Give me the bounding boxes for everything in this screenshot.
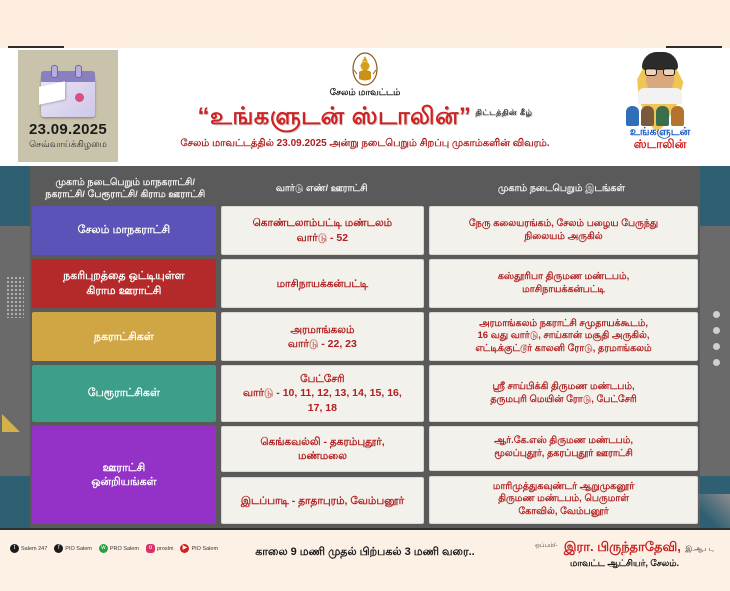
corner-fade-decor [696, 494, 730, 528]
column-header-venue: முகாம் நடைபெறும் இடங்கள் [425, 183, 698, 195]
page-title-text: “உங்களுடன் ஸ்டாலின்” [198, 103, 472, 130]
poster-footer: t Salem 247 f PIO Salem w PRO Salem o pr… [0, 528, 730, 591]
table-row: நகரிபுறத்தை ஒட்டியுள்ள கிராம ஊராட்சி மாச… [32, 259, 698, 308]
column-header-local-body: முகாம் நடைபெறும் மாநகராட்சி/ நகராட்சி/ ப… [32, 177, 218, 201]
page-title: “உங்களுடன் ஸ்டாலின்”திட்டத்தின் கீழ் [198, 103, 533, 133]
right-decor-panel [700, 166, 730, 528]
table-row: சேலம் மாநகராட்சி கொண்டலாம்பட்டி மண்டலம் … [32, 206, 698, 255]
ward-cell: பேட்சேரி வார்டு - 10, 11, 12, 13, 14, 15… [221, 365, 424, 421]
venue-cell: ஆர்.கே.எஸ் திருமண மண்டபம், மூலப்புதூர், … [429, 426, 698, 471]
table-row: நகராட்சிகள் அரமாங்கலம் வார்டு - 22, 23 அ… [32, 312, 698, 361]
signature-block: ஒப்பம்/- இரா. பிருந்தாதேவி, இ.ஆ.ப., மாவட… [535, 538, 714, 570]
signature-prefix: ஒப்பம்/- [535, 543, 557, 550]
ward-cell: மாசிநாயக்கன்பட்டி [221, 259, 424, 308]
dot-grid-decor [6, 276, 24, 318]
triangle-accent-decor [2, 414, 20, 432]
camp-schedule-table: முகாம் நடைபெறும் மாநகராட்சி/ நகராட்சி/ ப… [32, 166, 698, 528]
column-header-ward: வார்டு எண்/ ஊராட்சி [218, 183, 424, 195]
table-body: சேலம் மாநகராட்சி கொண்டலாம்பட்டி மண்டலம் … [32, 206, 698, 524]
category-cell: நகரிபுறத்தை ஒட்டியுள்ள கிராம ஊராட்சி [32, 259, 216, 308]
poster-header: 23.09.2025 செவ்வாய்க்கிழமை சேலம் மாவட்டம… [0, 48, 730, 166]
venue-cell: நேரு கலையரங்கம், சேலம் பழைய பேருந்து நில… [429, 206, 698, 255]
venue-cell: ஸ்ரீ சாய்பிக்கி திருமண மண்டபம், தருமபுரி… [429, 365, 698, 421]
table-row: ஊராட்சி ஒன்றியங்கள் கெங்கவல்லி - தகரம்பு… [32, 426, 698, 524]
category-cell: ஊராட்சி ஒன்றியங்கள் [32, 426, 216, 524]
category-cell: நகராட்சிகள் [32, 312, 216, 361]
venue-cell: மாரிமுத்துகவுண்டர் ஆறுமுகனூர் திருமண மண்… [429, 476, 698, 524]
page-subtitle: சேலம் மாவட்டத்தில் 23.09.2025 அன்று நடைப… [180, 138, 549, 150]
ward-cell: கொண்டலாம்பட்டி மண்டலம் வார்டு - 52 [221, 206, 424, 255]
dot-list-decor [713, 311, 720, 366]
program-logo-line2: ஸ்டாலின் [612, 138, 708, 150]
ward-cell: இடப்பாடி - தாதாபுரம், வேம்பனூர் [221, 477, 424, 524]
venue-cell: அரமாங்கலம் நகராட்சி சமுதாயக்கூடம், 16 வத… [429, 312, 698, 361]
signatory-role: மாவட்ட ஆட்சியர், சேலம். [535, 558, 714, 570]
ward-cell-group: கெங்கவல்லி - தகரம்புதூர், மண்மலை இடப்பாட… [221, 426, 424, 524]
camp-schedule-board: முகாம் நடைபெறும் மாநகராட்சி/ நகராட்சி/ ப… [0, 166, 730, 528]
poster-root: 23.09.2025 செவ்வாய்க்கிழமை சேலம் மாவட்டம… [0, 0, 730, 591]
ward-cell: அரமாங்கலம் வார்டு - 22, 23 [221, 312, 424, 361]
signatory-suffix: இ.ஆ.ப., [685, 545, 714, 554]
venue-cell-group: ஆர்.கே.எஸ் திருமண மண்டபம், மூலப்புதூர், … [429, 426, 698, 524]
page-title-superscript: திட்டத்தின் கீழ் [475, 108, 532, 117]
district-name: சேலம் மாவட்டம் [330, 87, 401, 99]
table-header-row: முகாம் நடைபெறும் மாநகராட்சி/ நகராட்சி/ ப… [32, 172, 698, 206]
category-cell: பேரூராட்சிகள் [32, 365, 216, 421]
tamil-nadu-government-emblem-icon [350, 52, 380, 86]
program-logo-badge: உங்களுடன் ஸ்டாலின் [612, 48, 708, 152]
program-logo-text: உங்களுடன் ஸ்டாலின் [612, 127, 708, 150]
left-decor-panel [0, 166, 30, 528]
venue-cell: கஸ்தூரிபா திருமண மண்டபம், மாசிநாயக்கன்பட… [429, 259, 698, 308]
people-group-icon [626, 106, 684, 126]
leader-portrait-icon [638, 52, 682, 100]
table-row: பேரூராட்சிகள் பேட்சேரி வார்டு - 10, 11, … [32, 365, 698, 421]
ward-cell: கெங்கவல்லி - தகரம்புதூர், மண்மலை [221, 426, 424, 473]
category-cell: சேலம் மாநகராட்சி [32, 206, 216, 255]
signatory-name: இரா. பிருந்தாதேவி, [564, 539, 681, 556]
